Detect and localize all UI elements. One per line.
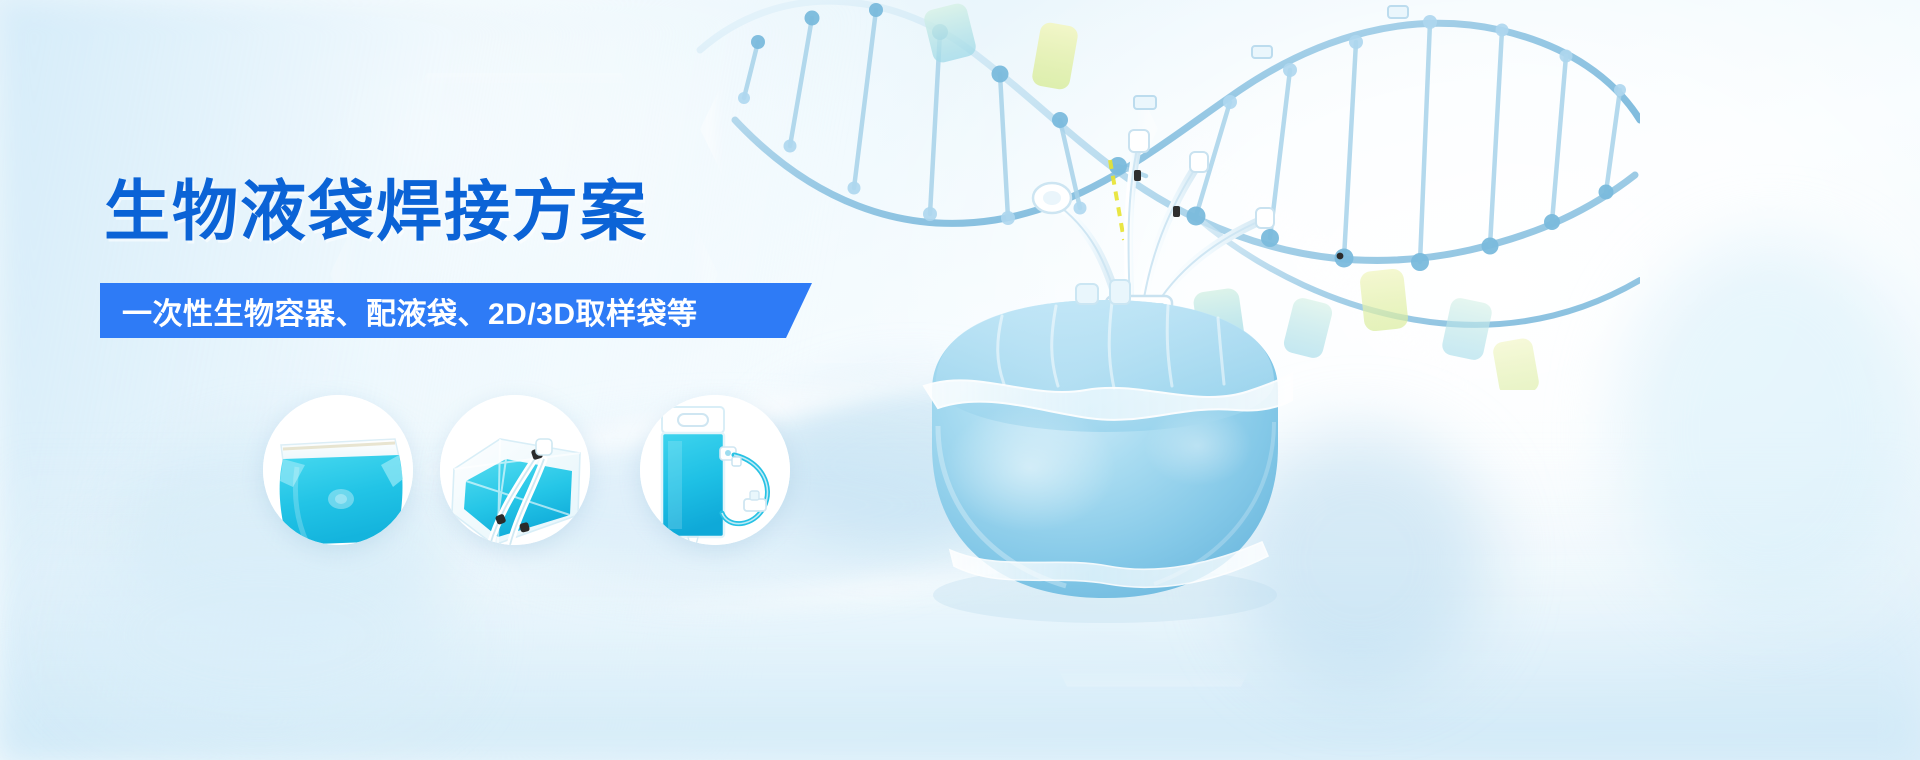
subtitle-banner: 一次性生物容器、配液袋、2D/3D取样袋等 bbox=[100, 283, 812, 338]
product-circle-3d-sampling-bag bbox=[440, 395, 590, 545]
bioreactor-bag-icon bbox=[880, 250, 1340, 630]
background-blob-3 bbox=[60, 520, 460, 750]
page-title: 生物液袋焊接方案 bbox=[104, 178, 648, 244]
background-blob-2 bbox=[1620, 240, 1920, 620]
promo-banner: 生物液袋焊接方案 一次性生物容器、配液袋、2D/3D取样袋等 bbox=[0, 0, 1920, 760]
product-circle-2d-liquid-bag bbox=[263, 395, 413, 545]
subtitle-text: 一次性生物容器、配液袋、2D/3D取样袋等 bbox=[100, 289, 698, 333]
product-circle-sampling-pouch bbox=[640, 395, 790, 545]
